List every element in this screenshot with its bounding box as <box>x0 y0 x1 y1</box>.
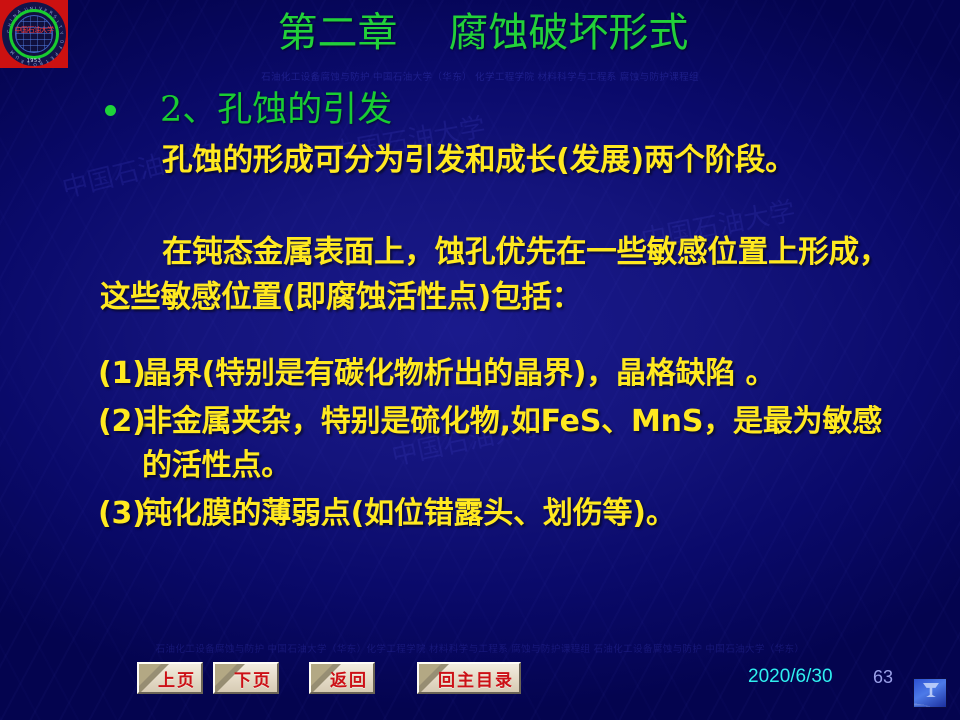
prev-page-button[interactable]: 上页 <box>137 662 203 694</box>
numbered-list: (1) 晶界(特别是有碳化物析出的晶界)，晶格缺陷 。 (2) 非金属夹杂，特别… <box>98 352 910 540</box>
logo-year: 1953 <box>2 58 66 64</box>
section-heading: 2、孔蚀的引发 <box>105 90 392 130</box>
watermark-bottom: 石油化工设备腐蚀与防护 中国石油大学（华东）化学工程学院 材料科学与工程系 腐蚀… <box>0 641 960 655</box>
next-page-button[interactable]: 下页 <box>213 662 279 694</box>
page-title: 第二章 腐蚀破坏形式 <box>68 8 898 58</box>
slide-footer: 上页 下页 返回 回主目录 2020/6/30 63 <box>0 662 960 720</box>
list-item: (1) 晶界(特别是有碳化物析出的晶界)，晶格缺陷 。 <box>98 352 910 396</box>
next-page-label: 下页 <box>220 666 272 691</box>
slide-body: 2、孔蚀的引发 孔蚀的形成可分为引发和成长(发展)两个阶段。 在钝态金属表面上，… <box>0 80 960 625</box>
list-item-number: (2) <box>98 400 142 444</box>
list-item-number: (1) <box>98 352 142 396</box>
logo-globe-icon <box>15 15 53 53</box>
main-menu-label: 回主目录 <box>424 666 514 691</box>
list-item-text: 钝化膜的薄弱点(如位错露头、划伤等)。 <box>142 496 676 531</box>
list-item-text: 非金属夹杂，特别是硫化物,如FeS、MnS，是最为敏感的活性点。 <box>142 404 882 483</box>
list-item: (2) 非金属夹杂，特别是硫化物,如FeS、MnS，是最为敏感的活性点。 <box>98 400 910 488</box>
prev-page-label: 上页 <box>144 666 196 691</box>
date-text: 2020/6/30 <box>748 666 833 688</box>
back-button[interactable]: 返回 <box>309 662 375 694</box>
page-number: 63 <box>873 667 893 688</box>
logo-chinese-name: 中国石油大学 <box>14 26 54 34</box>
main-menu-button[interactable]: 回主目录 <box>417 662 521 694</box>
university-logo: C H I N A U N I V E R S I T Y O F P E T <box>0 0 68 68</box>
paragraph: 在钝态金属表面上，蚀孔优先在一些敏感位置上形成，这些敏感位置(即腐蚀活性点)包括… <box>100 230 900 320</box>
list-item-number: (3) <box>98 492 142 536</box>
slide-canvas: 中国石油大学 中国石油大学 中国石油大学 中国石油大学 石油化工设备腐蚀与防护 … <box>0 0 960 720</box>
logo-outer-ring: C H I N A U N I V E R S I T Y O F P E T <box>2 2 66 66</box>
decorative-lamp-icon <box>913 678 947 708</box>
paragraph: 孔蚀的形成可分为引发和成长(发展)两个阶段。 <box>100 138 900 183</box>
back-label: 返回 <box>316 666 368 691</box>
list-item-text: 晶界(特别是有碳化物析出的晶界)，晶格缺陷 。 <box>142 356 775 391</box>
section-heading-label: 2、孔蚀的引发 <box>160 90 392 130</box>
list-item: (3) 钝化膜的薄弱点(如位错露头、划伤等)。 <box>98 492 910 536</box>
bullet-dot-icon <box>105 105 116 116</box>
